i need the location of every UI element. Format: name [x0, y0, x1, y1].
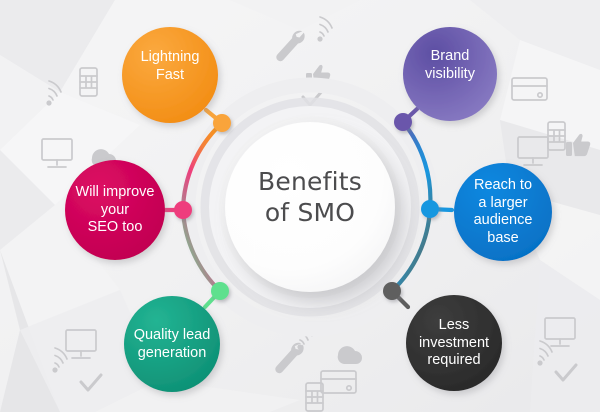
- label-lightning-fast: Lightning Fast: [122, 49, 218, 84]
- connector-node-brand-visibility[interactable]: [394, 113, 412, 131]
- label-line: Less: [404, 317, 504, 335]
- label-quality-lead-generation: Quality lead generation: [124, 327, 220, 362]
- hub-title-line-1: Benefits: [228, 166, 392, 197]
- hub-title-line-2: of SMO: [228, 197, 392, 228]
- label-line: visibility: [404, 66, 496, 84]
- label-will-improve-your-seo-too: Will improve your SEO too: [65, 184, 165, 237]
- label-line: base: [455, 230, 551, 248]
- label-line: required: [404, 352, 504, 370]
- label-brand-visibility: Brand visibility: [404, 48, 496, 83]
- hub-title: Benefits of SMO: [228, 166, 392, 228]
- connector-node-will-improve-seo[interactable]: [174, 201, 192, 219]
- label-line: a larger: [455, 195, 551, 213]
- label-less-investment-required: Less investment required: [404, 317, 504, 370]
- label-line: your: [65, 202, 165, 220]
- label-line: generation: [124, 345, 220, 363]
- label-line: audience: [455, 212, 551, 230]
- label-line: SEO too: [65, 219, 165, 237]
- label-line: Brand: [404, 48, 496, 66]
- connector-node-reach-audience[interactable]: [421, 200, 439, 218]
- connector-node-quality-lead[interactable]: [211, 282, 229, 300]
- connector-node-less-investment[interactable]: [383, 282, 401, 300]
- label-line: Will improve: [65, 184, 165, 202]
- label-line: Fast: [122, 67, 218, 85]
- label-line: Reach to: [455, 177, 551, 195]
- connector-node-lightning-fast[interactable]: [213, 114, 231, 132]
- label-line: Lightning: [122, 49, 218, 67]
- label-line: Quality lead: [124, 327, 220, 345]
- infographic-canvas: Benefits of SMO Lightning Fast Will impr…: [0, 0, 600, 412]
- label-reach-to-a-larger-audience-base: Reach to a larger audience base: [455, 177, 551, 247]
- label-line: investment: [404, 335, 504, 353]
